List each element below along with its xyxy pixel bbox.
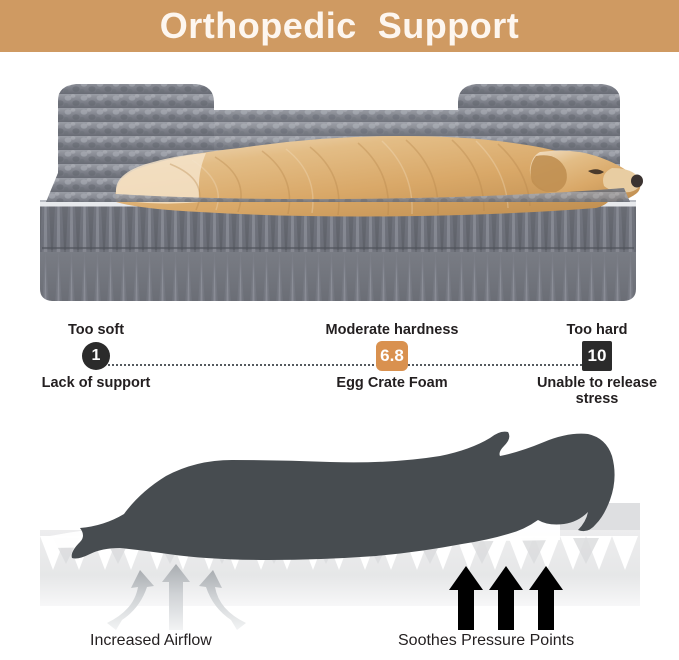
scale-marker-6-8: 6.8 [376, 341, 408, 371]
scale-column-too-soft: Too soft 1 Lack of support [14, 322, 178, 391]
product-photo [0, 52, 679, 320]
scale-marker-row-too-hard: 10 [524, 341, 670, 371]
scale-top-label-too-hard: Too hard [524, 322, 670, 339]
scale-marker-1: 1 [82, 342, 110, 370]
scale-marker-row-moderate: 6.8 [302, 341, 482, 371]
caption-increased-airflow: Increased Airflow [90, 632, 212, 650]
scale-column-too-hard: Too hard 10 Unable to release stress [524, 322, 670, 408]
caption-soothes-pressure-points: Soothes Pressure Points [398, 632, 574, 650]
header-banner: Orthopedic Support [0, 0, 679, 52]
scale-marker-row-too-soft: 1 [14, 341, 178, 371]
foam-diagram [0, 418, 679, 630]
scale-top-label-too-soft: Too soft [14, 322, 178, 339]
scale-bottom-label-lack-of-support: Lack of support [14, 375, 178, 392]
bed-base [40, 204, 636, 301]
scale-marker-10: 10 [582, 341, 612, 371]
diagram-captions: Increased Airflow Soothes Pressure Point… [0, 632, 679, 660]
foam-diagram-illustration [0, 418, 679, 630]
hardness-scale: Too soft 1 Lack of support Moderate hard… [0, 322, 679, 418]
dog-bed-illustration [0, 52, 679, 320]
pressure-arrows [449, 566, 563, 630]
scale-bottom-label-egg-crate-foam: Egg Crate Foam [302, 375, 482, 392]
scale-top-label-moderate-hardness: Moderate hardness [302, 322, 482, 339]
scale-column-moderate: Moderate hardness 6.8 Egg Crate Foam [302, 322, 482, 391]
scale-bottom-label-unable-to-release-stress: Unable to release stress [524, 375, 670, 408]
page-title: Orthopedic Support [160, 8, 519, 44]
